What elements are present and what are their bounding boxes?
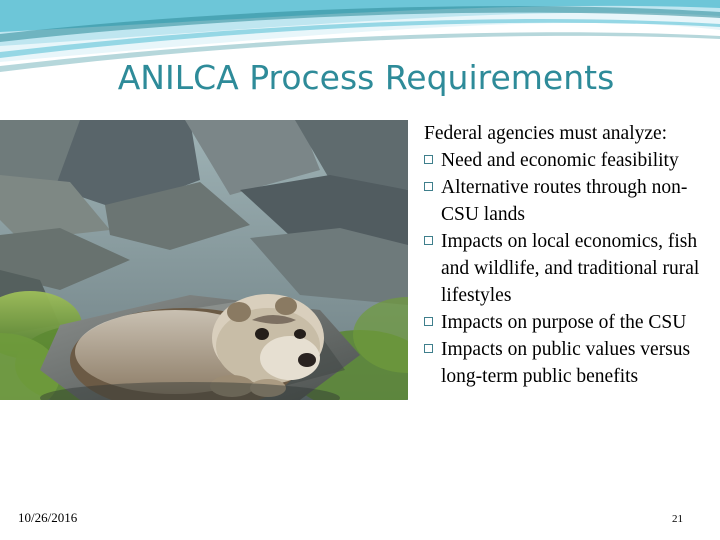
list-item: Impacts on public values versus long-ter…: [424, 336, 716, 390]
square-bullet-icon: [424, 317, 433, 326]
list-item: Impacts on purpose of the CSU: [424, 309, 716, 336]
lead-text: Federal agencies must analyze:: [424, 120, 716, 147]
marmot-on-rocks-photo: [0, 120, 408, 400]
list-item-text: Impacts on public values versus long-ter…: [441, 339, 690, 387]
list-item: Need and economic feasibility: [424, 147, 716, 174]
list-item-text: Alternative routes through non-CSU lands: [441, 177, 687, 225]
list-item: Alternative routes through non-CSU lands: [424, 174, 716, 228]
list-item: Impacts on local economics, fish and wil…: [424, 228, 716, 309]
slide: ANILCA Process Requirements: [0, 0, 720, 540]
square-bullet-icon: [424, 182, 433, 191]
square-bullet-icon: [424, 236, 433, 245]
date-stamp: 10/26/2016: [18, 510, 77, 526]
square-bullet-icon: [424, 155, 433, 164]
bullet-list: Need and economic feasibility Alternativ…: [424, 147, 716, 390]
page-title: ANILCA Process Requirements: [36, 58, 696, 97]
page-number: 21: [672, 513, 683, 525]
list-item-text: Need and economic feasibility: [441, 150, 679, 171]
list-item-text: Impacts on purpose of the CSU: [441, 312, 686, 333]
list-item-text: Impacts on local economics, fish and wil…: [441, 231, 699, 306]
body-text: Federal agencies must analyze: Need and …: [424, 120, 716, 390]
square-bullet-icon: [424, 344, 433, 353]
